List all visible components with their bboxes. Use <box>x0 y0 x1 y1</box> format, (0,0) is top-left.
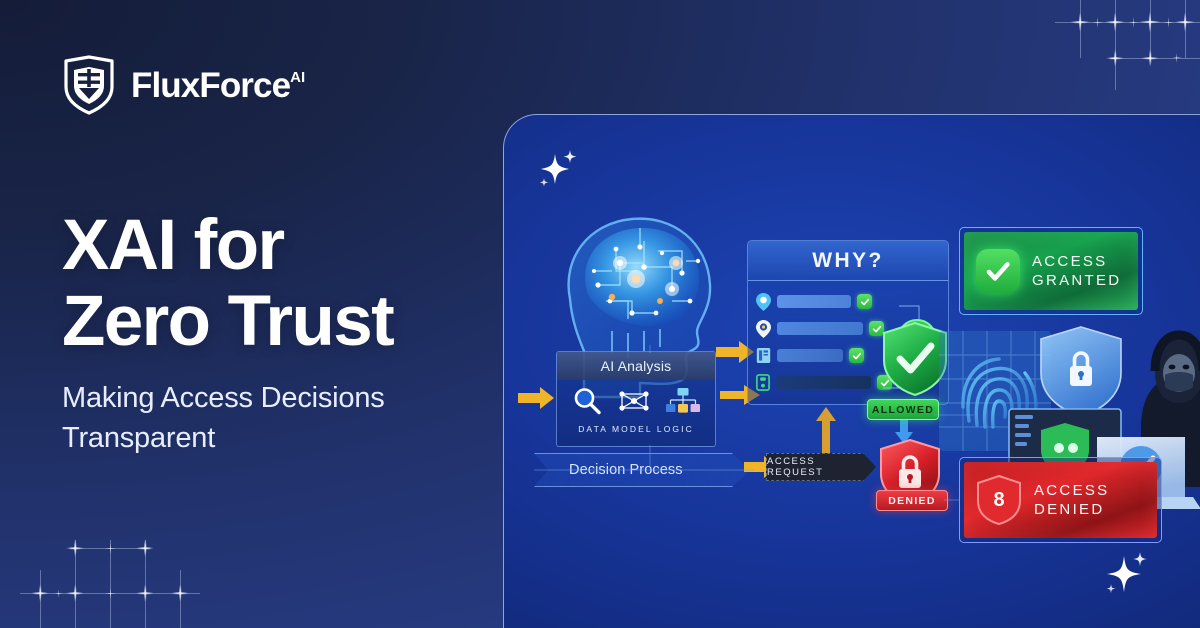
access-denied-card[interactable]: 8 ACCESS DENIED <box>959 457 1162 543</box>
decor-star <box>31 584 49 602</box>
id-card-icon <box>756 347 771 364</box>
ai-analysis-footer: DATA MODEL LOGIC <box>557 422 715 434</box>
decor-star <box>1139 11 1161 33</box>
access-granted-line-1: ACCESS <box>1032 252 1121 271</box>
headline-line-2: Zero Trust <box>62 284 393 360</box>
access-granted-line-2: GRANTED <box>1032 271 1121 290</box>
lock-shield-icon <box>1041 327 1121 417</box>
magnifier-icon <box>572 386 602 416</box>
decor-grid-top-right <box>1055 0 1200 94</box>
brand-name: FluxForce <box>131 68 290 103</box>
denied-badge-glyph: 8 <box>993 489 1004 512</box>
subhead-line-2: Transparent <box>62 418 385 458</box>
decor-star <box>1106 49 1124 67</box>
decor-star <box>1172 53 1182 63</box>
decor-star <box>1070 12 1090 32</box>
shield-logo-icon <box>62 55 116 115</box>
subhead-line-1: Making Access Decisions <box>62 382 385 414</box>
allowed-label: ALLOWED <box>872 404 934 416</box>
decor-star <box>105 588 116 599</box>
decor-star <box>66 584 84 602</box>
map-pin-icon <box>756 320 771 338</box>
arrow-request-up-icon <box>816 407 836 453</box>
decor-star <box>54 589 63 598</box>
brand-wordmark: FluxForce AI <box>131 68 305 103</box>
decor-star <box>1141 49 1159 67</box>
device-icon <box>756 374 770 391</box>
poster-canvas: FluxForce AI XAI for Zero Trust Making A… <box>0 0 1200 628</box>
location-pin-icon <box>756 293 771 311</box>
illustration-panel: AI Analysis <box>503 114 1200 628</box>
why-row[interactable] <box>756 288 940 315</box>
access-granted-card[interactable]: ACCESS GRANTED <box>959 227 1143 315</box>
decor-star <box>105 543 116 554</box>
decision-process-banner[interactable]: Decision Process <box>534 453 750 487</box>
decor-star <box>136 539 154 557</box>
decision-process-label: Decision Process <box>569 462 683 478</box>
decor-sparkle-icon <box>1100 548 1152 600</box>
decor-star <box>171 584 189 602</box>
decor-star <box>66 539 84 557</box>
decor-star <box>1092 17 1103 28</box>
brand-logo[interactable]: FluxForce AI <box>62 55 305 115</box>
decor-star <box>1163 17 1174 28</box>
decor-star <box>1128 17 1139 28</box>
page-title: XAI for Zero Trust <box>62 208 393 360</box>
decor-sparkle-icon <box>539 148 579 192</box>
why-panel-title: WHY? <box>748 241 948 281</box>
access-denied-line-2: DENIED <box>1034 500 1110 519</box>
check-badge-icon <box>976 249 1020 293</box>
ai-analysis-card[interactable]: AI Analysis <box>556 351 716 447</box>
headline-line-1: XAI for <box>62 206 284 285</box>
brand-superscript: AI <box>290 70 305 85</box>
decor-star <box>1175 12 1195 32</box>
access-request-chip[interactable]: ACCESS REQUEST <box>766 453 876 481</box>
hierarchy-icon <box>666 387 700 415</box>
access-request-label: ACCESS REQUEST <box>767 456 865 478</box>
denied-shield-icon: 8 <box>976 475 1022 525</box>
decor-grid-bottom-left <box>20 540 200 628</box>
decor-star <box>1105 12 1125 32</box>
decor-star <box>136 584 154 602</box>
ai-analysis-title: AI Analysis <box>557 352 715 380</box>
why-check-icon <box>849 348 864 363</box>
access-denied-line-1: ACCESS <box>1034 481 1110 500</box>
why-check-icon <box>857 294 872 309</box>
neural-network-icon <box>617 388 651 414</box>
arrow-into-ai-icon <box>518 387 554 409</box>
page-subtitle: Making Access Decisions Transparent <box>62 378 385 458</box>
